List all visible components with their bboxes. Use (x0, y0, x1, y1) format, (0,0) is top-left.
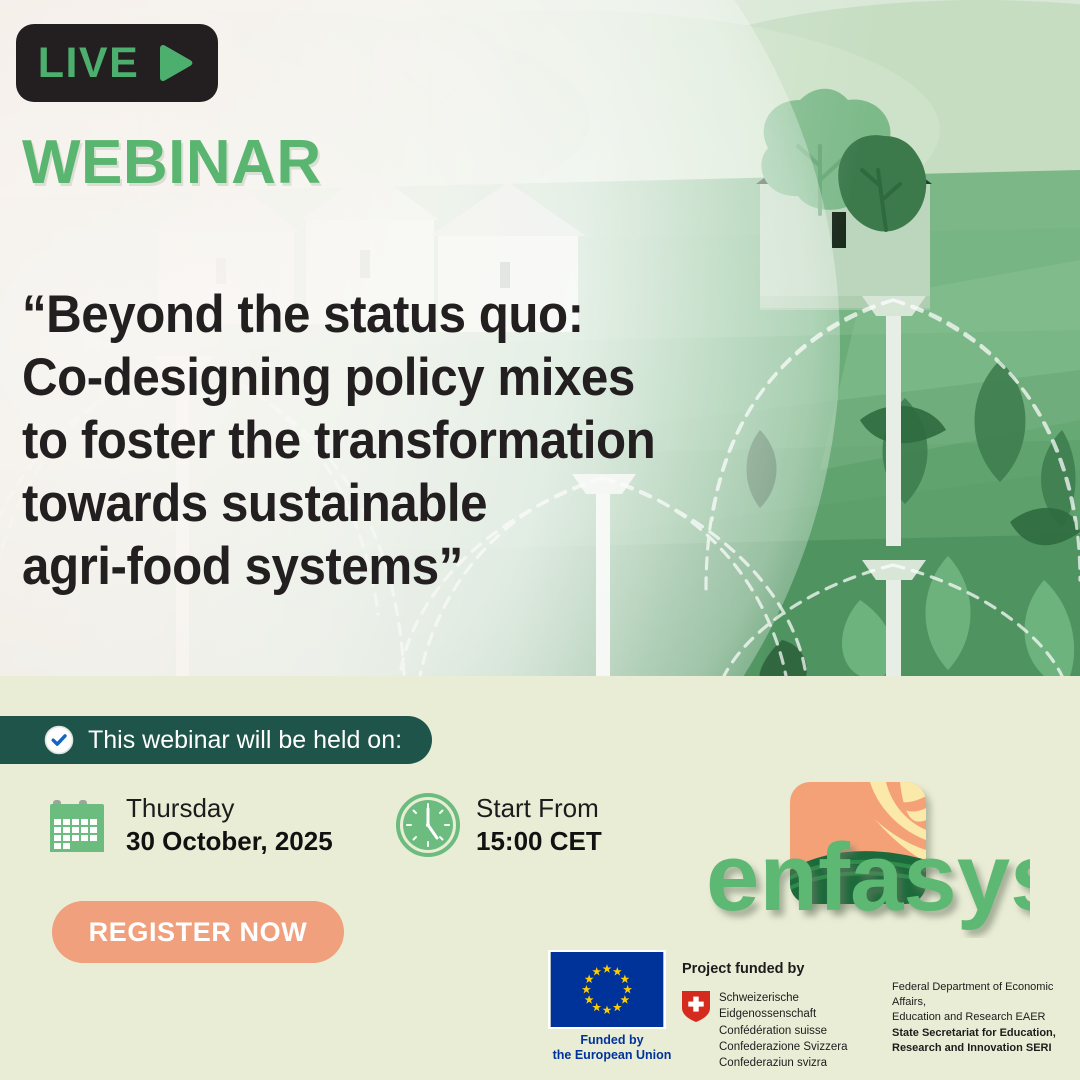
webinar-poster: LIVE WEBINAR “Beyond the status quo: Co-… (0, 0, 1080, 1080)
register-now-button[interactable]: REGISTER NOW (52, 901, 344, 963)
page-title: “Beyond the status quo: Co-designing pol… (22, 283, 757, 598)
live-label: LIVE (38, 42, 140, 85)
enfasys-wordmark: enfasys (706, 824, 1030, 931)
held-on-label: This webinar will be held on: (88, 728, 402, 753)
swiss-identity-row: Schweizerische Eidgenossenschaft Confédé… (682, 990, 882, 1072)
calendar-icon (48, 794, 110, 856)
held-on-banner: This webinar will be held on: (0, 716, 432, 764)
play-triangle-icon (154, 43, 196, 83)
time-label: Start From (476, 793, 602, 824)
live-badge: LIVE (16, 24, 218, 102)
enfasys-logo: enfasys (700, 778, 1030, 938)
swiss-shield-icon (682, 991, 710, 1022)
eu-flag-icon (548, 950, 666, 1029)
time-value: 15:00 CET (476, 826, 602, 857)
hero-section: LIVE WEBINAR “Beyond the status quo: Co-… (0, 0, 1080, 676)
date-weekday: Thursday (126, 793, 333, 824)
date-item: Thursday 30 October, 2025 (48, 793, 333, 856)
webinar-eyebrow: WEBINAR (22, 132, 322, 194)
eu-funding-caption: Funded by the European Union (548, 1033, 676, 1064)
seri-department: Federal Department of Economic Affairs, … (892, 980, 1080, 1026)
date-value: 30 October, 2025 (126, 826, 333, 857)
project-funded-by-heading: Project funded by (682, 962, 882, 978)
eu-funding-block: Funded by the European Union (548, 950, 676, 1064)
clock-icon (396, 793, 460, 857)
swiss-languages: Schweizerische Eidgenossenschaft Confédé… (719, 990, 882, 1072)
time-text-block: Start From 15:00 CET (476, 793, 602, 856)
time-item: Start From 15:00 CET (396, 793, 602, 857)
seri-block: Federal Department of Economic Affairs, … (892, 980, 1080, 1056)
check-circle-icon (44, 725, 74, 755)
seri-secretariat: State Secretariat for Education, Researc… (892, 1026, 1080, 1056)
date-text-block: Thursday 30 October, 2025 (126, 793, 333, 856)
schedule-row: Thursday 30 October, 2025 (0, 793, 700, 889)
funding-section: Funded by the European Union Project fun… (548, 950, 1080, 1075)
swiss-funding-block: Project funded by Schweizerische Eidgeno… (682, 962, 882, 1080)
